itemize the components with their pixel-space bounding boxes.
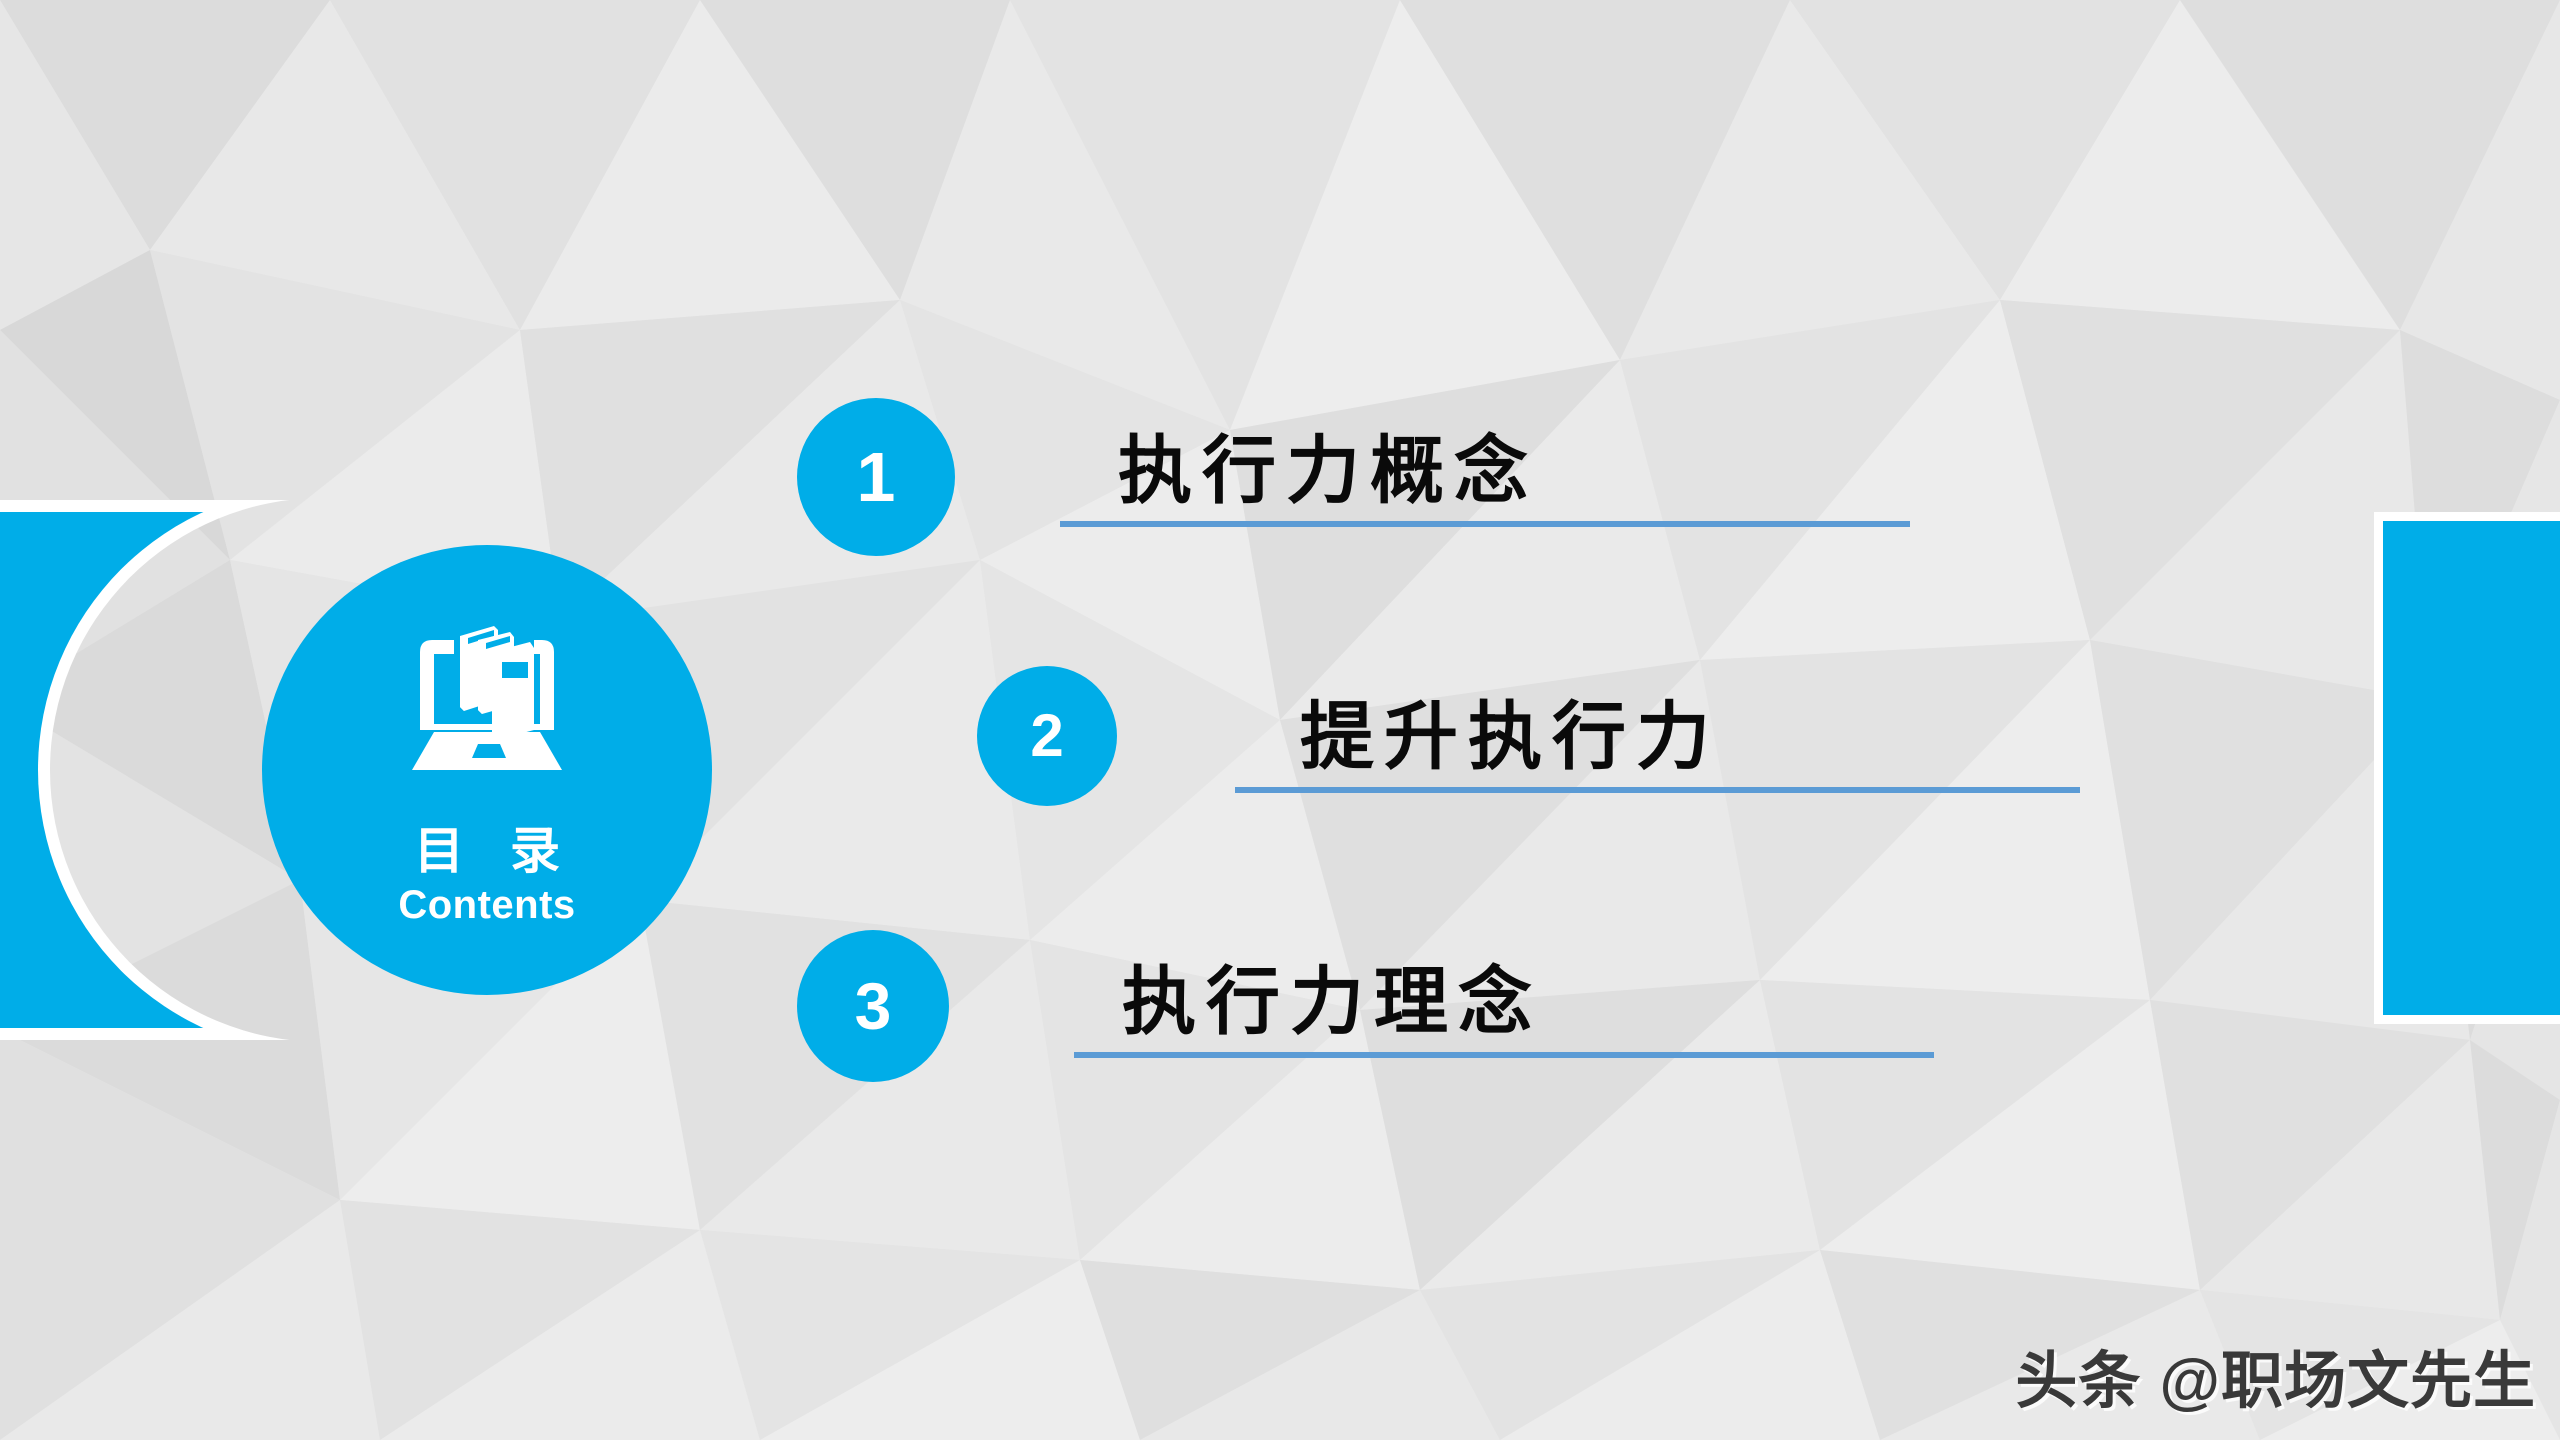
agenda-label-3: 执行力理念 [1122, 965, 1542, 1039]
agenda-label-2: 提升执行力 [1300, 700, 1720, 774]
agenda-number-badge-3: 3 [797, 930, 949, 1082]
agenda-underline-2 [1235, 787, 2080, 793]
contents-badge: 目 录 Contents [262, 545, 712, 995]
agenda-number-badge-2: 2 [977, 666, 1117, 806]
slide-canvas: 目 录 Contents 1 执行力概念 2 提升执行力 3 执行力理念 头条 … [0, 0, 2560, 1440]
agenda-number-badge-1: 1 [797, 398, 955, 556]
contents-title-cn: 目 录 [398, 825, 576, 878]
contents-title-en: Contents [398, 883, 575, 928]
watermark-text: 头条 @职场文先生 [2015, 1330, 2536, 1420]
agenda-underline-1 [1060, 521, 1910, 527]
agenda-underline-3 [1074, 1052, 1934, 1058]
agenda-label-1: 执行力概念 [1118, 434, 1538, 508]
laptop-with-books-icon [382, 612, 592, 797]
